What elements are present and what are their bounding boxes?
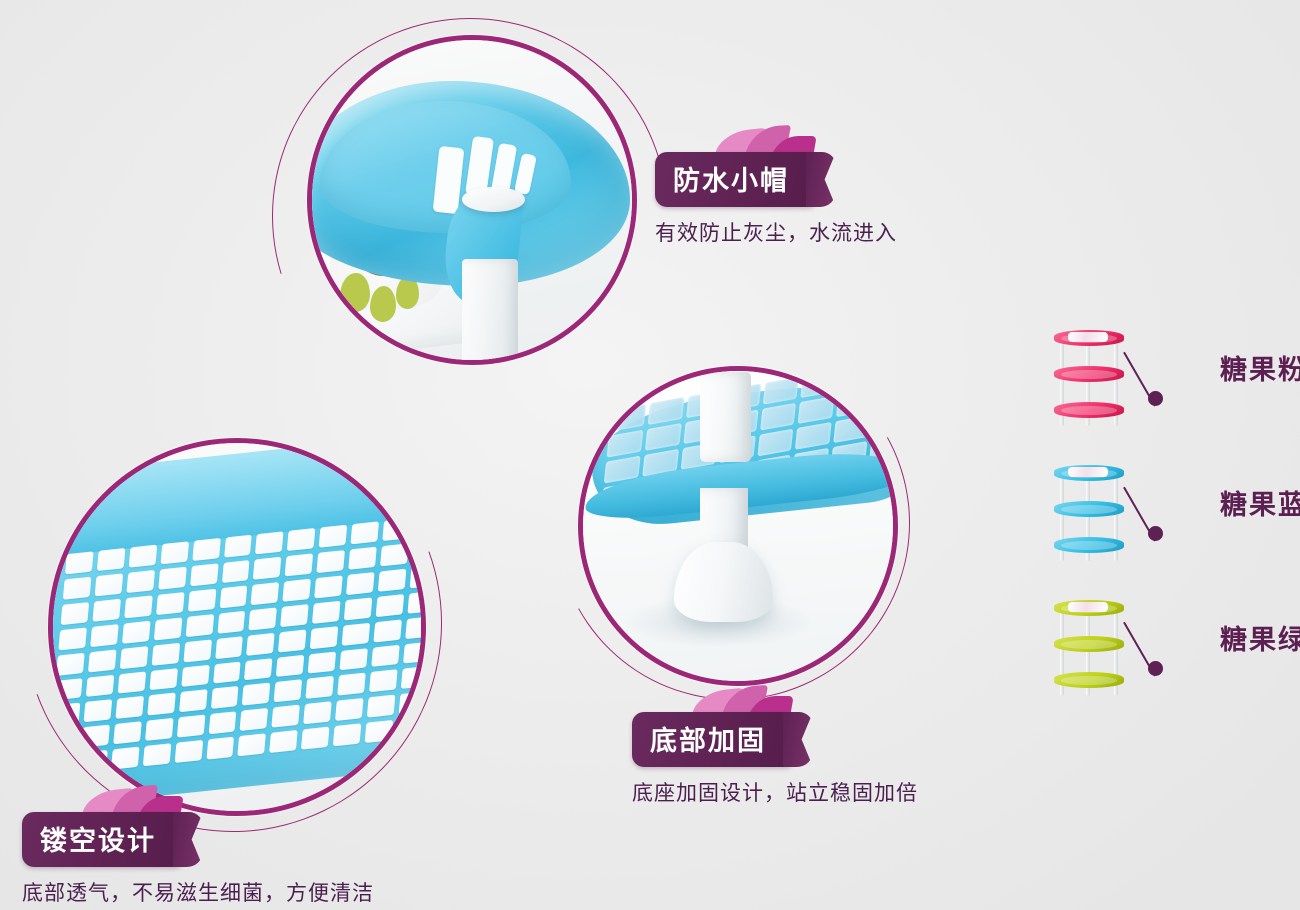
badge-label: 底部加固 bbox=[632, 712, 796, 767]
rack-thumbnail-blue bbox=[1052, 465, 1126, 561]
badge-label: 防水小帽 bbox=[655, 152, 819, 207]
support-pole bbox=[462, 259, 518, 365]
feature-description: 底部透气，不易滋生细菌，方便清洁 bbox=[22, 877, 374, 907]
rack-package-label bbox=[1068, 332, 1108, 342]
feature-photo-waterproof-cap bbox=[307, 35, 637, 365]
feature-caption-hollow-design: 镂空设计 底部透气，不易滋生细菌，方便清洁 bbox=[22, 812, 374, 907]
variant-label: 糖果蓝 bbox=[1220, 483, 1300, 522]
color-variant-item[interactable]: 糖果绿 bbox=[1024, 592, 1292, 727]
photo-hollow-design bbox=[48, 438, 426, 816]
feature-description: 有效防止灰尘，水流进入 bbox=[655, 217, 897, 247]
variant-pointer-icon bbox=[1146, 614, 1206, 676]
hollow-grid bbox=[48, 515, 426, 777]
badge-waterproof-cap: 防水小帽 bbox=[655, 152, 819, 207]
feature-caption-bottom-reinforce: 底部加固 底座加固设计，站立稳固加倍 bbox=[632, 712, 918, 807]
badge-label: 镂空设计 bbox=[22, 812, 186, 867]
rack-package-label bbox=[1068, 602, 1108, 612]
photo-waterproof-cap bbox=[307, 35, 637, 365]
color-variant-item[interactable]: 糖果粉 bbox=[1024, 322, 1292, 457]
color-variant-list: 糖果粉 糖果蓝 bbox=[1024, 322, 1292, 727]
product-feature-board: 防水小帽 有效防止灰尘，水流进入 底部加固 底座加固设计，站立稳固加倍 镂空设计… bbox=[0, 0, 1300, 910]
feature-caption-waterproof-cap: 防水小帽 有效防止灰尘，水流进入 bbox=[655, 152, 897, 247]
variant-pointer-icon bbox=[1146, 479, 1206, 541]
feature-description: 底座加固设计，站立稳固加倍 bbox=[632, 777, 918, 807]
variant-pointer-icon bbox=[1146, 344, 1206, 406]
variant-label: 糖果粉 bbox=[1220, 348, 1300, 387]
feature-photo-hollow-design bbox=[48, 438, 426, 816]
support-pole-upper bbox=[700, 372, 751, 462]
rack-thumbnail-green bbox=[1052, 600, 1126, 696]
photo-bottom-reinforce bbox=[578, 366, 898, 686]
variant-label: 糖果绿 bbox=[1220, 618, 1300, 657]
badge-bottom-reinforce: 底部加固 bbox=[632, 712, 796, 767]
rack-thumbnail-pink bbox=[1052, 330, 1126, 426]
waterproof-cap-part bbox=[462, 187, 525, 212]
feature-photo-bottom-reinforce bbox=[578, 366, 898, 686]
badge-hollow-design: 镂空设计 bbox=[22, 812, 186, 867]
color-variant-item[interactable]: 糖果蓝 bbox=[1024, 457, 1292, 592]
rack-package-label bbox=[1068, 467, 1108, 477]
